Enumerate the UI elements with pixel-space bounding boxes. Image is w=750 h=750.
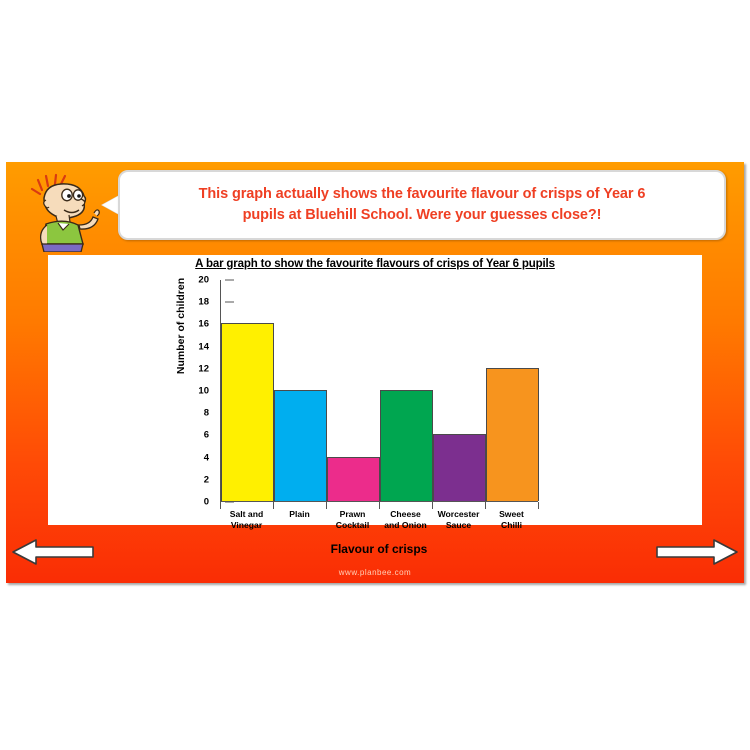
speech-bubble: This graph actually shows the favourite …: [118, 170, 726, 240]
arrow-left-icon[interactable]: [10, 537, 96, 567]
category-label-line: Prawn: [327, 509, 378, 520]
y-axis-tick-label: 10: [187, 386, 209, 397]
y-axis-tick-label: 0: [187, 497, 209, 508]
plot-area: [220, 280, 538, 502]
bar-cell: [486, 279, 539, 501]
y-axis-ticks: 02468101214161820: [187, 280, 209, 502]
bar-cell: [433, 279, 486, 501]
bar-cell: [380, 279, 433, 501]
presentation-slide: This graph actually shows the favourite …: [6, 162, 744, 583]
bar-cell: [274, 279, 327, 501]
bar-cell: [327, 279, 380, 501]
bar-sweet-chilli: [486, 368, 539, 501]
x-axis-tick-mark: [379, 502, 380, 509]
x-axis-tick-mark: [485, 502, 486, 509]
y-axis-tick-label: 8: [187, 408, 209, 419]
slide-banner: This graph actually shows the favourite …: [6, 162, 744, 252]
y-axis-tick-label: 12: [187, 363, 209, 374]
category-label-line: Salt and: [221, 509, 272, 520]
slide-footer: www.planbee.com: [6, 525, 744, 583]
y-axis-tick-label: 2: [187, 474, 209, 485]
category-label-line: Worcester: [433, 509, 484, 520]
bar-salt-and-vinegar: [221, 323, 274, 501]
bar-plain: [274, 390, 327, 501]
x-axis-tick-mark: [432, 502, 433, 509]
bars-container: [221, 279, 539, 501]
x-axis-tick-mark: [538, 502, 539, 509]
x-axis-ticks: [220, 502, 538, 509]
previous-slide-button[interactable]: [10, 537, 96, 567]
y-axis-tick-label: 16: [187, 319, 209, 330]
x-axis-tick-mark: [326, 502, 327, 509]
teacher-svg: [26, 168, 104, 252]
bar-chart: Number of children 02468101214161820 Sal…: [173, 280, 593, 520]
bar-cell: [221, 279, 274, 501]
speech-bubble-line-1: This graph actually shows the favourite …: [199, 184, 646, 205]
bar-cheese-and-onion: [380, 390, 433, 501]
y-axis-tick-label: 14: [187, 341, 209, 352]
x-axis-tick-mark: [220, 502, 221, 509]
y-axis-tick-label: 4: [187, 452, 209, 463]
bar-prawn-cocktail: [327, 457, 380, 501]
bar-worcester-sauce: [433, 434, 486, 501]
x-axis-tick-mark: [273, 502, 274, 509]
chart-title: A bar graph to show the favourite flavou…: [48, 258, 702, 270]
category-label-line: Plain: [274, 509, 325, 520]
chart-panel: A bar graph to show the favourite flavou…: [48, 255, 702, 525]
y-axis-tick-label: 6: [187, 430, 209, 441]
cartoon-teacher-illustration: [26, 168, 104, 252]
category-label-line: Cheese: [380, 509, 431, 520]
category-label-line: Sweet: [486, 509, 537, 520]
y-axis-title: Number of children: [175, 256, 187, 396]
next-slide-button[interactable]: [654, 537, 740, 567]
footer-url: www.planbee.com: [6, 568, 744, 577]
y-axis-tick-label: 20: [187, 275, 209, 286]
speech-bubble-line-2: pupils at Bluehill School. Were your gue…: [199, 205, 646, 226]
speech-bubble-text: This graph actually shows the favourite …: [185, 184, 660, 226]
y-axis-tick-label: 18: [187, 297, 209, 308]
arrow-right-icon[interactable]: [654, 537, 740, 567]
